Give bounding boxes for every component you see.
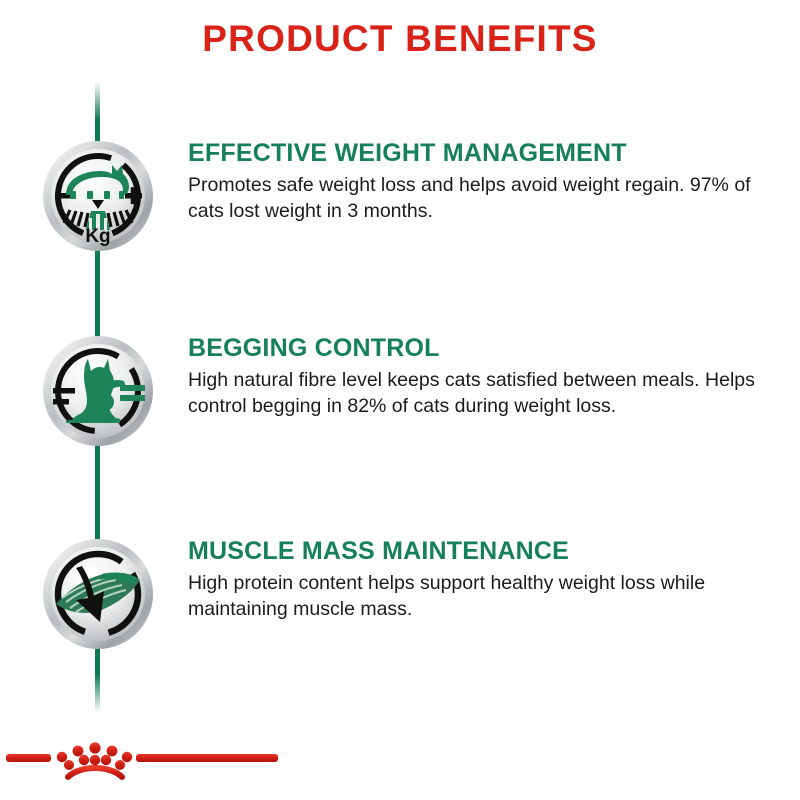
benefit-text-block: BEGGING CONTROL High natural fibre level… <box>188 335 788 420</box>
benefit-heading: BEGGING CONTROL <box>188 335 788 361</box>
logo-right-bar <box>136 754 278 762</box>
benefit-text-block: EFFECTIVE WEIGHT MANAGEMENT Promotes saf… <box>188 140 788 225</box>
benefit-heading: MUSCLE MASS MAINTENANCE <box>188 538 788 564</box>
muscle-fibre-arrow-icon <box>42 538 154 650</box>
benefit-body: High protein content helps support healt… <box>188 571 778 623</box>
royal-canin-crown-logo <box>6 735 278 785</box>
benefit-heading: EFFECTIVE WEIGHT MANAGEMENT <box>188 140 788 166</box>
weight-scale-cat-icon: Kg <box>42 140 154 252</box>
begging-cat-icon <box>42 335 154 447</box>
kg-label: Kg <box>85 226 110 247</box>
page-title: PRODUCT BENEFITS <box>0 18 800 60</box>
benefit-text-block: MUSCLE MASS MAINTENANCE High protein con… <box>188 538 788 623</box>
logo-left-bar <box>6 754 51 762</box>
crown-arc <box>68 768 122 777</box>
benefit-body: High natural fibre level keeps cats sati… <box>188 368 778 420</box>
benefit-body: Promotes safe weight loss and helps avoi… <box>188 173 778 225</box>
